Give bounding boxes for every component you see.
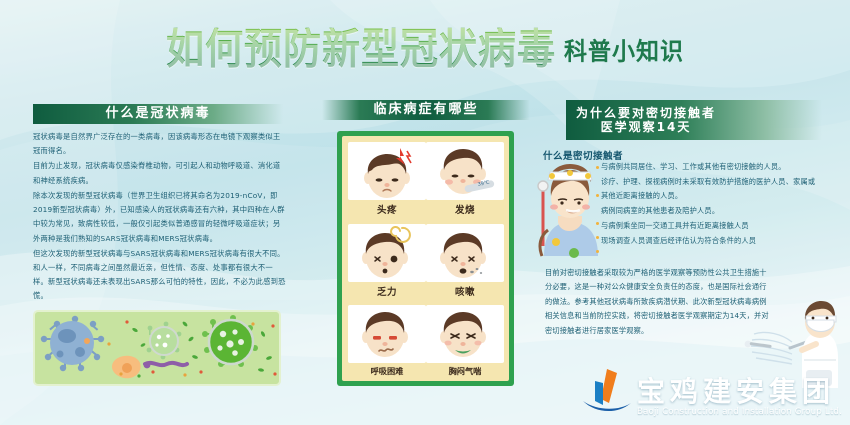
left-section-header: 什么是冠状病毒 bbox=[33, 104, 283, 124]
company-name-cn: 宝鸡建安集团 bbox=[637, 377, 842, 406]
left-paragraph-4: 但这次发现的新型冠状病毒与SARS冠状病毒和MERS冠状病毒有很大不同。和人一样… bbox=[33, 247, 286, 304]
bullet-dot-1 bbox=[596, 166, 599, 169]
bullet-dot-5 bbox=[596, 250, 599, 253]
headache-face-icon bbox=[348, 142, 426, 200]
company-logo: 宝鸡建安集团 Baoji Construction and Installati… bbox=[581, 367, 842, 417]
page-title: 如何预防新型冠状病毒 bbox=[166, 28, 556, 71]
left-paragraph-2: 目前为止发现，冠状病毒仅感染脊椎动物，可引起人和动物呼吸道、消化道和神经系统疾病… bbox=[33, 159, 286, 187]
green-virus-large-icon bbox=[202, 315, 258, 367]
bullet-dot-3 bbox=[596, 222, 599, 225]
symptom-row-2: 乏力 bbox=[348, 224, 503, 298]
virus-illustration bbox=[33, 310, 281, 386]
symptom-cell-headache: 头疼 bbox=[348, 142, 426, 216]
right-contacts-list: 与病例共同居住、学习、工作或其他有密切接触的人员。 诊疗、护理、探视病例时未采取… bbox=[601, 160, 821, 249]
chest-tightness-face-icon bbox=[426, 305, 504, 363]
right-section-header-line2: 医学观察14天 bbox=[576, 120, 716, 134]
poster-title-area: 如何预防新型冠状病毒科普小知识 bbox=[0, 30, 850, 68]
blue-virus-icon bbox=[41, 316, 104, 371]
symptom-cell-breathing: 呼吸困难 bbox=[348, 305, 426, 377]
left-section-header-label: 什么是冠状病毒 bbox=[105, 106, 210, 121]
symptoms-card: 头疼 bbox=[337, 131, 514, 386]
cough-face-icon bbox=[426, 224, 504, 282]
right-contact-item-2: 诊疗、护理、探视病例时未采取有效防护措施的医护人员、家属或其他近距离接触的人员。 bbox=[601, 175, 821, 203]
left-paragraph-1: 冠状病毒是自然界广泛存在的一类病毒，因该病毒形态在电镜下观察类似王冠而得名。 bbox=[33, 130, 286, 158]
middle-section-header: 临床病症有哪些 bbox=[322, 100, 530, 120]
symptom-label-breathing: 呼吸困难 bbox=[348, 365, 426, 377]
poster-canvas: 如何预防新型冠状病毒科普小知识 什么是冠状病毒 冠状病毒是自然界广泛存在的一类病… bbox=[0, 0, 850, 425]
left-section-body: 冠状病毒是自然界广泛存在的一类病毒，因该病毒形态在电镜下观察类似王冠而得名。 目… bbox=[33, 130, 286, 305]
baoji-sail-logo-icon bbox=[581, 367, 633, 417]
symptom-label-cough: 咳嗽 bbox=[426, 284, 504, 298]
middle-section-header-label: 临床病症有哪些 bbox=[373, 102, 478, 117]
doctor-with-mask-icon bbox=[536, 160, 602, 260]
symptom-cell-chest: 胸闷气喘 bbox=[426, 305, 504, 377]
company-name-en: Baoji Construction and Installation Grou… bbox=[637, 407, 842, 417]
right-contact-item-5: 现场调查人员调查后经评估认为符合条件的人员 bbox=[601, 234, 821, 248]
symptom-label-chest: 胸闷气喘 bbox=[426, 365, 504, 377]
right-contact-item-3: 病例同病室的其他患者及陪护人员。 bbox=[601, 204, 821, 218]
symptom-row-3: 呼吸困难 bbox=[348, 305, 503, 377]
right-contact-item-1: 与病例共同居住、学习、工作或其他有密切接触的人员。 bbox=[601, 160, 821, 174]
symptoms-grid: 头疼 bbox=[342, 136, 509, 381]
green-virus-small-icon bbox=[147, 322, 182, 360]
bullet-dot-2 bbox=[596, 194, 599, 197]
symptom-cell-fatigue: 乏力 bbox=[348, 224, 426, 298]
symptom-row-1: 头疼 bbox=[348, 142, 503, 216]
bullet-dot-4 bbox=[596, 236, 599, 239]
fatigue-face-icon bbox=[348, 224, 426, 282]
symptom-label-fatigue: 乏力 bbox=[348, 284, 426, 298]
symptom-label-headache: 头疼 bbox=[348, 202, 426, 216]
purple-bacteria-icon bbox=[145, 363, 187, 365]
left-paragraph-3: 除本次发现的新型冠状病毒（世界卫生组织已将其命名为2019-nCoV，即2019… bbox=[33, 189, 286, 246]
symptom-cell-fever: 39℃ 发烧 bbox=[426, 142, 504, 216]
right-section-header-line1: 为什么要对密切接触者 bbox=[576, 106, 716, 120]
right-section-header: 为什么要对密切接触者 医学观察14天 bbox=[566, 100, 822, 140]
symptom-cell-cough: 咳嗽 bbox=[426, 224, 504, 298]
fever-face-icon: 39℃ bbox=[426, 142, 504, 200]
symptom-label-fever: 发烧 bbox=[426, 202, 504, 216]
breathing-difficulty-face-icon bbox=[348, 305, 426, 363]
page-subtitle: 科普小知识 bbox=[564, 31, 684, 67]
right-contact-item-4: 与病例乘坐同一交通工具并有近距离接触人员 bbox=[601, 219, 821, 233]
